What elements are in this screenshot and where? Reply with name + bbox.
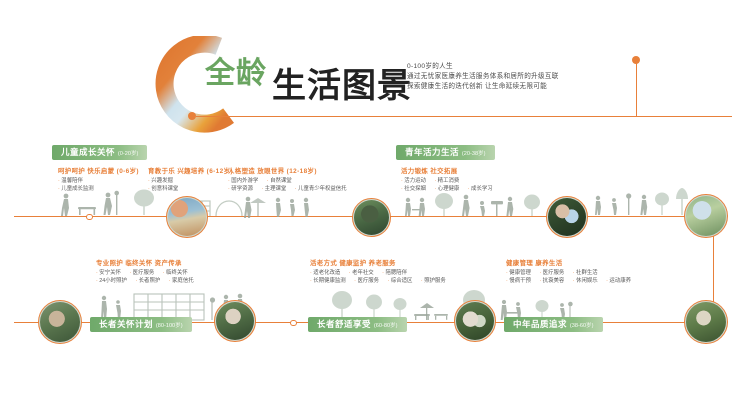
subtitle-line-2: 通过无忧家医康养生活服务体系和居所的升级互联 <box>407 72 559 81</box>
group-children-1-head: 育教于乐 兴趣培养 (6-12岁) <box>148 166 233 175</box>
badge-elder-comfort-age: (60-80岁) <box>374 323 398 329</box>
list-item: 国内外游学 <box>228 178 258 186</box>
list-item: 成长学习 <box>468 186 493 194</box>
subtitle-line-1: 0-100岁的人生 <box>407 62 559 71</box>
list-item: 健康管理 <box>506 270 531 278</box>
list-item: 活力运动 <box>401 178 426 186</box>
list-item: 温馨陪伴 <box>58 178 83 186</box>
badge-midlife[interactable]: 中年品质追求 (38-60岁) <box>504 317 603 332</box>
group-youth-0-head: 活力锻炼 社交拓展 <box>401 166 500 175</box>
list-item: 老年社交 <box>349 270 374 278</box>
timeline-dot-4 <box>290 320 297 327</box>
list-item: 家庭信托 <box>169 278 194 286</box>
group-elder-care-0-rows: 安宁关怀 医疗服务 临终关怀 24小时照护 长者照护 家庭信托 <box>96 270 201 285</box>
list-item: 社交探姻 <box>401 186 426 194</box>
group-elder-care-0-head: 专业照护 临终关怀 资产传承 <box>96 258 201 267</box>
badge-children[interactable]: 儿童成长关怀 (0-20岁) <box>52 145 147 160</box>
list-item: 综合适区 <box>388 278 413 286</box>
list-item: 社群生活 <box>573 270 598 278</box>
family-outdoor-photo[interactable] <box>546 196 588 238</box>
header-subtitle: 0-100岁的人生 通过无忧家医康养生活服务体系和居所的升级互联 探索健康生活的… <box>407 62 559 92</box>
list-item: 长期健康监测 <box>310 278 346 286</box>
group-children-1: 育教于乐 兴趣培养 (6-12岁) 兴趣发掘 创意科课堂 <box>148 166 233 193</box>
page-title-accent: 全龄 <box>205 48 267 92</box>
list-item: 创意科课堂 <box>148 186 178 194</box>
badge-elder-comfort[interactable]: 长者舒适享受 (60-80岁) <box>308 317 407 332</box>
list-item: 休闲娱乐 <box>573 278 598 286</box>
list-item: 安宁关怀 <box>96 270 121 278</box>
list-item: 慢病干预 <box>506 278 531 286</box>
badge-youth-age: (20-38岁) <box>462 151 486 157</box>
list-item: 照护服务 <box>421 278 446 286</box>
page-title: 生活图景 <box>272 58 412 107</box>
group-elder-comfort-0-rows: 适老化改造 老年社交 陪腮陪伴 长期健康监测 医疗服务 综合适区 照护服务 <box>310 270 453 285</box>
group-children-1-rows: 兴趣发掘 创意科课堂 <box>148 178 233 193</box>
silhouette-social-group <box>400 190 550 218</box>
group-midlife-0-rows: 健康管理 医疗服务 社群生活 慢病干预 抗衰美容 休闲娱乐 运动康养 <box>506 270 638 285</box>
list-item: 长者照护 <box>135 278 160 286</box>
elder-garden-photo[interactable] <box>214 300 256 342</box>
list-item: 医疗服务 <box>539 270 564 278</box>
list-item: 研学资源 <box>228 186 253 194</box>
badge-elder-care[interactable]: 长者关怀计划 (80-100岁) <box>90 317 192 332</box>
badge-midlife-label: 中年品质追求 <box>513 319 567 329</box>
list-item: 陪腮陪伴 <box>382 270 407 278</box>
badge-midlife-age: (38-60岁) <box>570 323 594 329</box>
child-playing-photo[interactable] <box>166 196 208 238</box>
badge-youth[interactable]: 青年活力生活 (20-38岁) <box>396 145 495 160</box>
badge-youth-label: 青年活力生活 <box>405 147 459 157</box>
youth-outdoor-photo[interactable] <box>352 198 391 237</box>
group-elder-care-0: 专业照护 临终关怀 资产传承 安宁关怀 医疗服务 临终关怀 24小时照护 长者照… <box>96 258 201 285</box>
group-elder-comfort-0: 活老方式 健康监护 养老服务 适老化改造 老年社交 陪腮陪伴 长期健康监测 医疗… <box>310 258 453 285</box>
list-item: 儿童青少年权益信托 <box>295 186 347 194</box>
badge-elder-care-label: 长者关怀计划 <box>99 319 153 329</box>
group-children-0-head: 呵护呵护 快乐启蒙 (0-6岁) <box>58 166 139 175</box>
couple-field-photo[interactable] <box>684 300 728 344</box>
group-youth-0-rows: 活力运动 精工消费 社交探姻 心理健康 成长学习 <box>401 178 500 193</box>
group-children-0-rows: 温馨陪伴 儿童成长监测 <box>58 178 139 193</box>
badge-elder-care-age: (80-100岁) <box>156 323 183 329</box>
list-item: 主理课堂 <box>261 186 286 194</box>
infographic-canvas: 全龄 生活图景 0-100岁的人生 通过无忧家医康养生活服务体系和居所的升级互联… <box>0 0 740 416</box>
group-midlife-0-head: 健康管理 康养生活 <box>506 258 638 267</box>
header-rule-horizontal <box>196 116 732 117</box>
list-item: 临终关怀 <box>163 270 188 278</box>
group-children-2-rows: 国内外游学 自然课堂 研学资源 主理课堂 儿童青少年权益信托 <box>228 178 354 193</box>
list-item: 24小时照护 <box>96 278 127 286</box>
list-item: 抗衰美容 <box>539 278 564 286</box>
elder-couple-photo[interactable] <box>38 300 82 344</box>
list-item: 儿童成长监测 <box>58 186 94 194</box>
couple-walking-photo[interactable] <box>684 194 728 238</box>
header-rule-dot-left <box>188 112 196 120</box>
badge-elder-comfort-label: 长者舒适享受 <box>317 319 371 329</box>
group-youth-0: 活力锻炼 社交拓展 活力运动 精工消费 社交探姻 心理健康 成长学习 <box>401 166 500 193</box>
list-item: 运动康养 <box>606 278 631 286</box>
list-item: 兴趣发掘 <box>148 178 173 186</box>
subtitle-line-3: 探索健康生活的迭代创新 让生命延续无限可能 <box>407 82 559 91</box>
header-rule-vertical <box>636 60 637 116</box>
list-item: 医疗服务 <box>129 270 154 278</box>
badge-children-label: 儿童成长关怀 <box>61 147 115 157</box>
group-elder-comfort-0-head: 活老方式 健康监护 养老服务 <box>310 258 453 267</box>
list-item: 精工消费 <box>434 178 459 186</box>
group-midlife-0: 健康管理 康养生活 健康管理 医疗服务 社群生活 慢病干预 抗衰美容 休闲娱乐 … <box>506 258 638 285</box>
group-children-2-head: 人格塑造 放眼世界 (12-18岁) <box>228 166 354 175</box>
list-item: 医疗服务 <box>354 278 379 286</box>
list-item: 适老化改造 <box>310 270 340 278</box>
list-item: 自然课堂 <box>267 178 292 186</box>
list-item: 心理健康 <box>434 186 459 194</box>
group-children-2: 人格塑造 放眼世界 (12-18岁) 国内外游学 自然课堂 研学资源 主理课堂 … <box>228 166 354 193</box>
women-sitting-photo[interactable] <box>454 300 496 342</box>
group-children-0: 呵护呵护 快乐启蒙 (0-6岁) 温馨陪伴 儿童成长监测 <box>58 166 139 193</box>
badge-children-age: (0-20岁) <box>118 151 139 157</box>
